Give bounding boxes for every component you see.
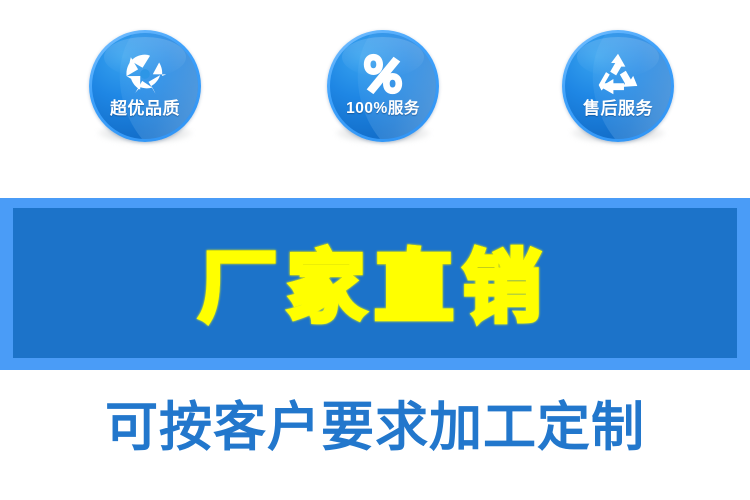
badge-disc: 100%服务 (330, 33, 436, 139)
badge-disc: 售后服务 (565, 33, 671, 139)
feature-badge-service[interactable]: 100%服务 (327, 30, 439, 142)
feature-badge-row: 超优品质 100%服务 (0, 0, 750, 195)
feature-badge-after-sales[interactable]: 售后服务 (562, 30, 674, 142)
headline-band: 厂家直销 (0, 198, 750, 370)
aperture-icon (92, 49, 198, 99)
badge-label: 超优品质 (92, 99, 198, 119)
headline-text: 厂家直销 (13, 240, 737, 336)
recycle-icon (565, 49, 671, 99)
feature-badge-quality[interactable]: 超优品质 (89, 30, 201, 142)
badge-label: 100%服务 (330, 99, 436, 119)
badge-disc: 超优品质 (92, 33, 198, 139)
tagline-text: 可按客户要求加工定制 (0, 392, 750, 464)
percent-icon (330, 49, 436, 99)
headline-band-inner: 厂家直销 (13, 208, 737, 358)
badge-label: 售后服务 (565, 99, 671, 119)
promo-banner: 超优品质 100%服务 (0, 0, 750, 500)
